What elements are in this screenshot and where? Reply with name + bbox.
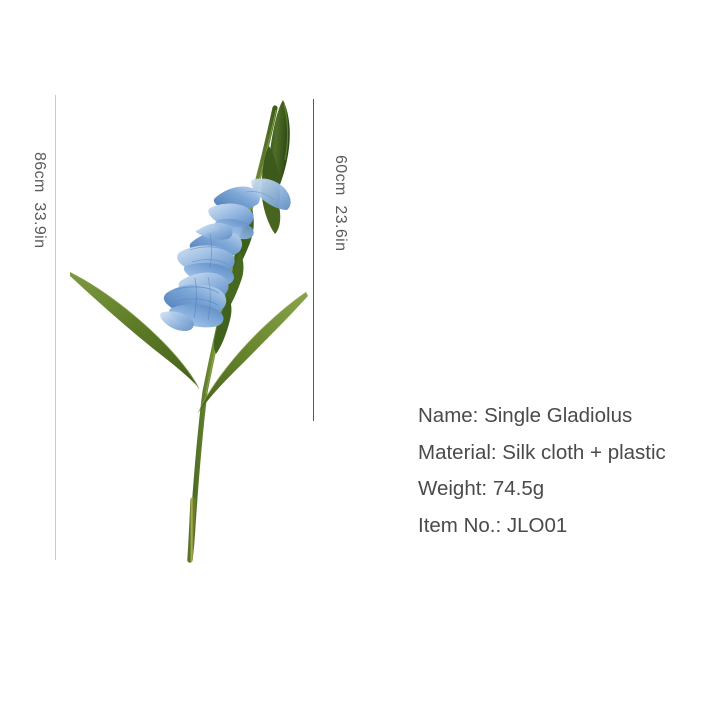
spec-line-material: Material: Silk cloth + plastic <box>418 435 708 472</box>
product-photo-canvas: 86cm 33.9in 60cm 23.6in <box>0 0 724 724</box>
spec-line-item-no: Item No.: JLO01 <box>418 508 708 545</box>
spec-line-weight: Weight: 74.5g <box>418 471 708 508</box>
blossom-lower <box>160 273 228 331</box>
gladiolus-flower-image <box>40 80 340 580</box>
flower-bud-tip <box>262 100 290 234</box>
spec-line-name: Name: Single Gladiolus <box>418 398 708 435</box>
product-spec-list: Name: Single Gladiolus Material: Silk cl… <box>418 398 708 544</box>
